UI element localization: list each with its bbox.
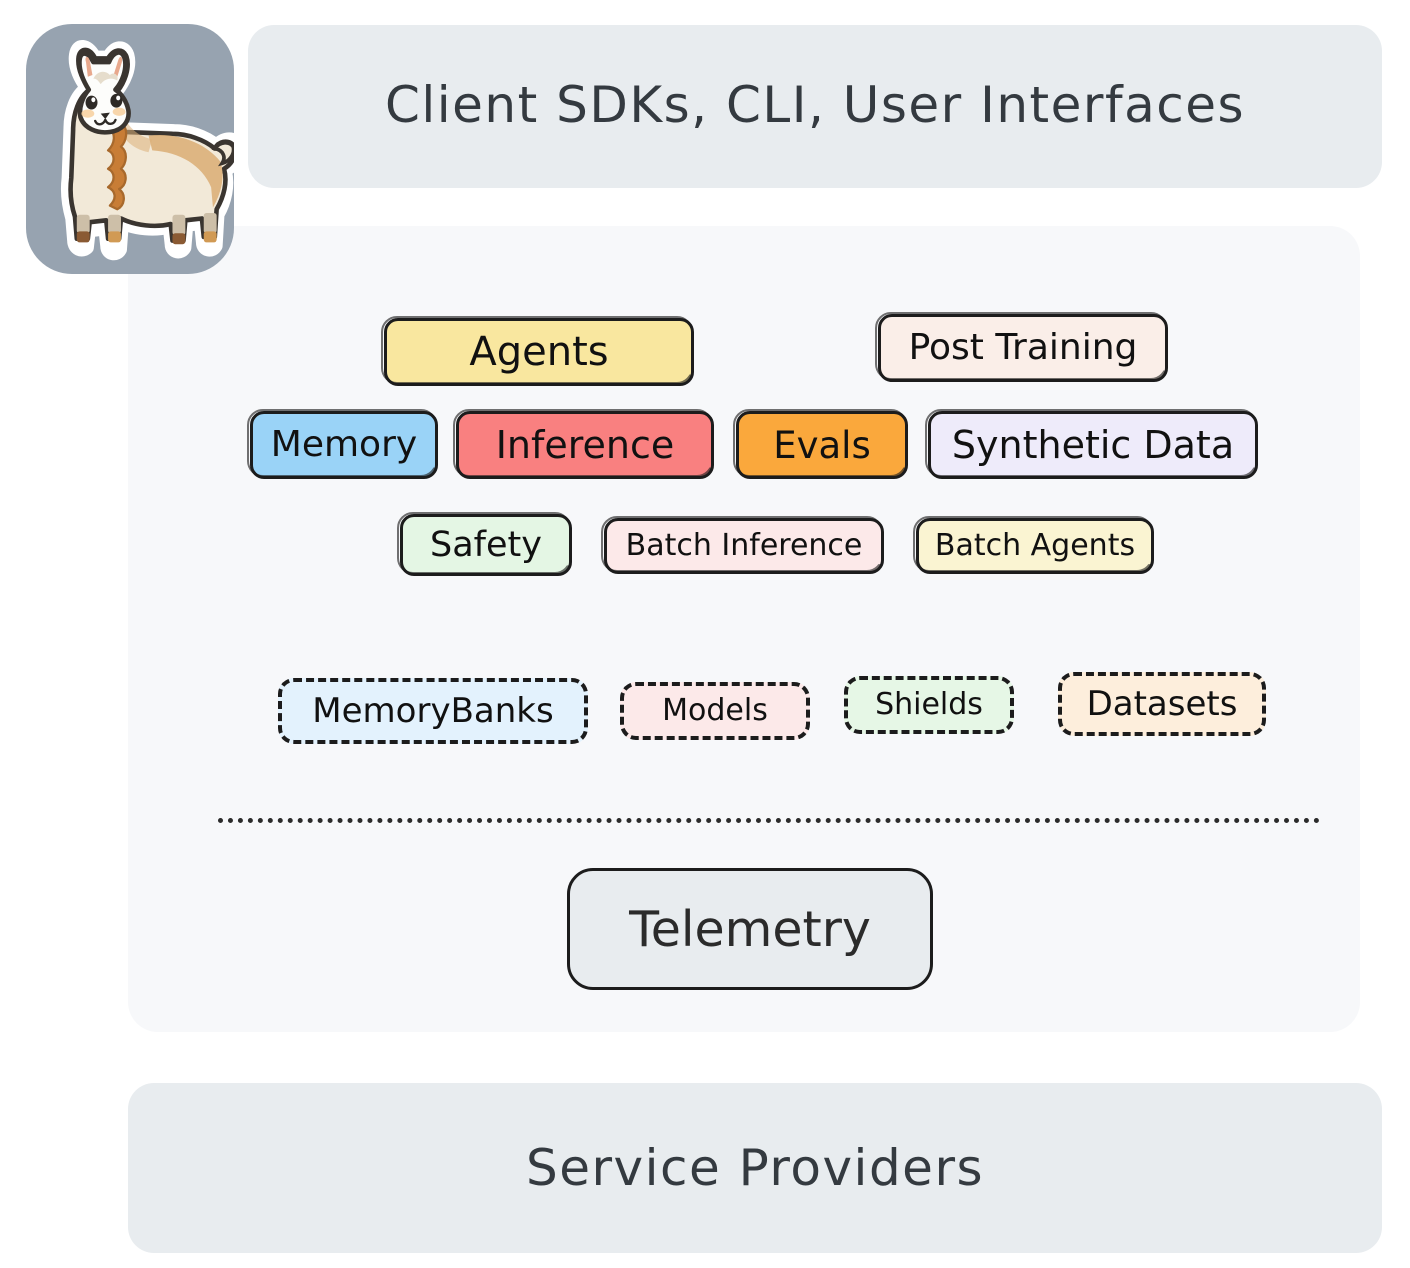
api-box-memory[interactable]: Memory <box>250 411 438 479</box>
api-box-batch-inference[interactable]: Batch Inference <box>604 518 884 574</box>
api-box-label: Safety <box>430 528 542 563</box>
api-box-post-training[interactable]: Post Training <box>878 314 1168 382</box>
api-box-label: Synthetic Data <box>952 426 1234 464</box>
diagram-canvas: Client SDKs, CLI, User Interfaces <box>0 0 1410 1268</box>
api-box-safety[interactable]: Safety <box>400 514 572 576</box>
header-band: Client SDKs, CLI, User Interfaces <box>248 25 1382 188</box>
telemetry-box[interactable]: Telemetry <box>567 868 933 990</box>
llama-logo-tile <box>26 24 234 274</box>
footer-title: Service Providers <box>526 1139 984 1197</box>
api-box-label: Agents <box>469 332 608 372</box>
dotted-divider <box>218 818 1320 823</box>
api-box-label: Post Training <box>909 330 1138 366</box>
resource-box-label: Models <box>662 696 768 726</box>
api-box-label: Batch Agents <box>935 531 1135 561</box>
page-title: Client SDKs, CLI, User Interfaces <box>248 23 1382 186</box>
api-box-label: Batch Inference <box>626 531 863 561</box>
resource-box-label: Shields <box>875 690 983 720</box>
resource-box-models[interactable]: Models <box>620 682 810 740</box>
telemetry-label: Telemetry <box>629 901 871 958</box>
resource-box-datasets[interactable]: Datasets <box>1058 672 1266 736</box>
api-box-agents[interactable]: Agents <box>384 318 694 386</box>
api-box-synthetic-data[interactable]: Synthetic Data <box>928 411 1258 479</box>
api-box-label: Inference <box>496 426 675 464</box>
resource-box-shields[interactable]: Shields <box>844 676 1014 734</box>
resource-box-memorybanks[interactable]: MemoryBanks <box>278 678 588 744</box>
footer-band: Service Providers <box>128 1083 1382 1253</box>
api-box-label: Evals <box>773 427 871 464</box>
api-box-batch-agents[interactable]: Batch Agents <box>916 518 1154 574</box>
resource-box-label: Datasets <box>1087 687 1238 721</box>
api-box-label: Memory <box>271 427 417 463</box>
api-box-inference[interactable]: Inference <box>456 411 714 479</box>
llama-logo-icon <box>26 24 234 274</box>
resource-box-label: MemoryBanks <box>312 694 553 728</box>
api-box-evals[interactable]: Evals <box>736 411 908 479</box>
